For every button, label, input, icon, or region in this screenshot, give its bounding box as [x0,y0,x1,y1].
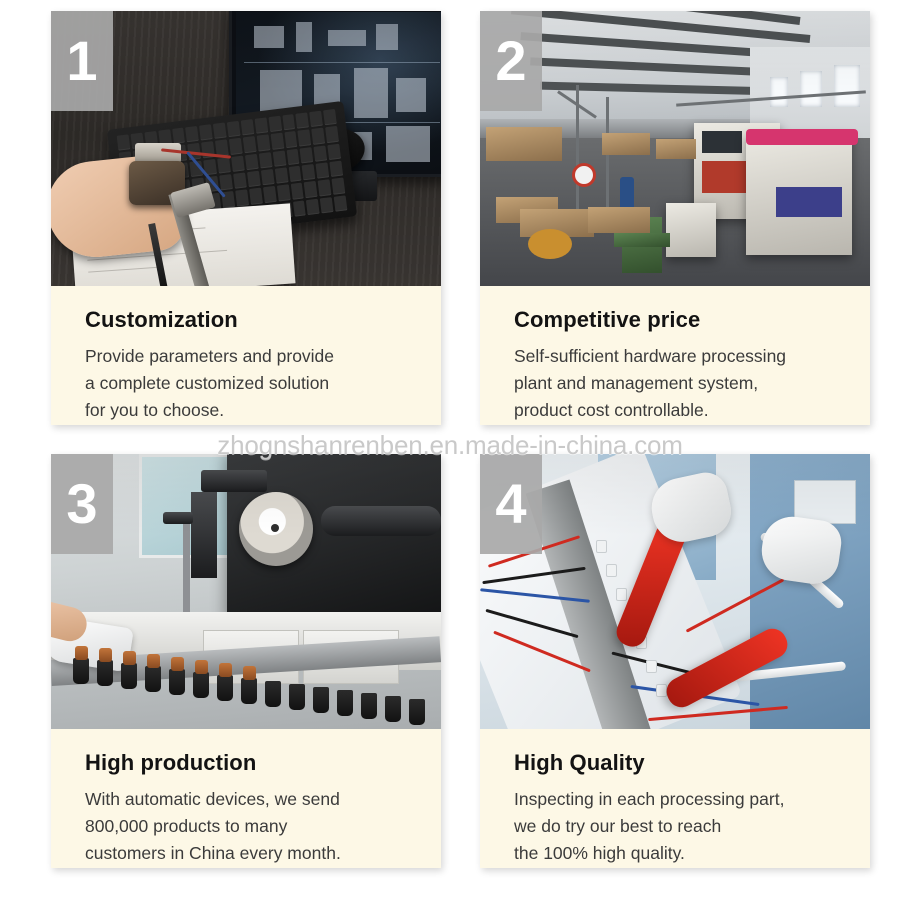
card-text-2: Competitive price Self-sufficient hardwa… [480,286,870,425]
card-image-3: 3 [51,454,441,729]
card-description-3: With automatic devices, we send 800,000 … [85,786,415,867]
feature-card-high-quality[interactable]: 4 High Quality Inspecting in each proces… [480,454,870,868]
card-text-3: High production With automatic devices, … [51,729,441,868]
card-text-4: High Quality Inspecting in each processi… [480,729,870,868]
card-description-4: Inspecting in each processing part, we d… [514,786,844,867]
card-title-3: High production [85,751,415,775]
feature-card-competitive-price[interactable]: 2 Competitive price Self-sufficient hard… [480,11,870,425]
feature-card-high-production[interactable]: 3 High production With automatic devices… [51,454,441,868]
card-number-badge-4: 4 [480,454,542,554]
card-title-1: Customization [85,308,415,332]
card-description-1: Provide parameters and provide a complet… [85,343,415,424]
card-title-2: Competitive price [514,308,844,332]
card-image-1: 1 [51,11,441,286]
card-description-2: Self-sufficient hardware processing plan… [514,343,844,424]
feature-card-grid: 1 Customization Provide parameters and p… [51,11,870,868]
card-text-1: Customization Provide parameters and pro… [51,286,441,425]
card-number-badge-2: 2 [480,11,542,111]
card-image-4: 4 [480,454,870,729]
feature-card-customization[interactable]: 1 Customization Provide parameters and p… [51,11,441,425]
advantages-page: 1 Customization Provide parameters and p… [0,0,900,900]
card-number-badge-1: 1 [51,11,113,111]
card-number-badge-3: 3 [51,454,113,554]
card-image-2: 2 [480,11,870,286]
card-title-4: High Quality [514,751,844,775]
